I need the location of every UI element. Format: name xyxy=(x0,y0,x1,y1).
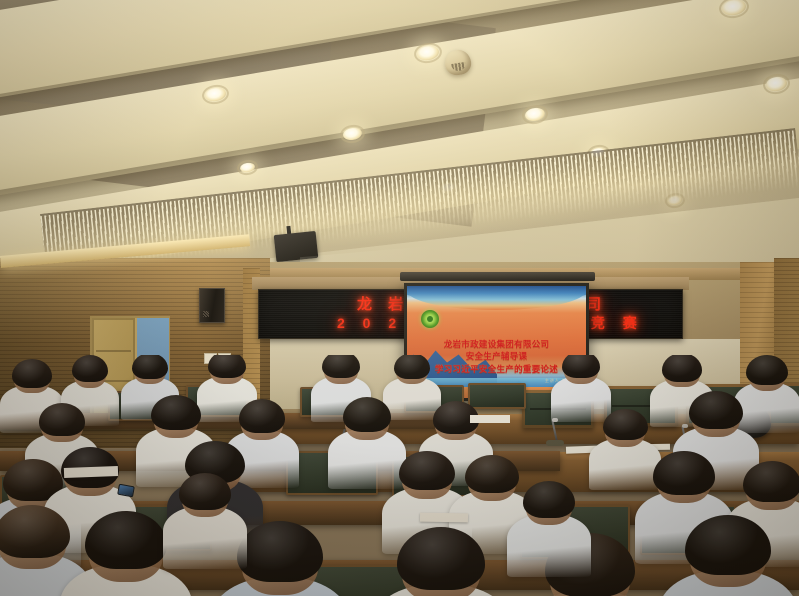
audience-paper-1 xyxy=(64,466,118,478)
audience-person-25 xyxy=(80,511,172,596)
audience-person-16 xyxy=(600,409,650,496)
slide-sky-band xyxy=(407,286,586,310)
person-hair xyxy=(239,399,286,433)
person-hair xyxy=(12,359,52,388)
person-hair xyxy=(72,355,108,382)
person-hair xyxy=(237,521,323,582)
audience-paper-3 xyxy=(470,415,510,423)
person-hair xyxy=(208,355,246,378)
person-hair xyxy=(662,355,702,382)
slide-title-line-1: 龙岩市政建设集团有限公司 xyxy=(407,338,586,350)
person-hair xyxy=(685,515,771,575)
audience-person-6 xyxy=(392,355,432,425)
person-hair xyxy=(39,403,86,436)
person-hair xyxy=(85,511,168,569)
person-hair xyxy=(132,355,168,379)
person-hair xyxy=(397,527,485,590)
person-hair xyxy=(603,409,648,440)
person-hair xyxy=(653,451,714,495)
audience-person-13 xyxy=(340,397,394,496)
audience-person-7 xyxy=(560,355,602,427)
person-hair xyxy=(746,355,787,385)
audience-paper-2 xyxy=(420,513,468,523)
wall-speaker xyxy=(199,288,225,323)
screen-roller-housing xyxy=(400,272,595,281)
person-hair xyxy=(322,355,360,378)
person-hair xyxy=(689,391,743,429)
person-hair xyxy=(0,505,70,558)
person-hair xyxy=(399,451,455,490)
person-hair xyxy=(465,455,519,493)
audience-person-27 xyxy=(392,527,490,596)
audience-person-24 xyxy=(0,505,74,596)
audience-person-29 xyxy=(680,515,776,596)
person-hair xyxy=(523,481,575,518)
person-hair xyxy=(394,355,430,379)
audience-person-31 xyxy=(520,481,578,584)
person-hair xyxy=(562,355,600,378)
person-hair xyxy=(343,397,392,432)
person-hair xyxy=(743,461,799,502)
audience-seating xyxy=(0,355,799,596)
safety-emblem-icon xyxy=(421,310,439,328)
audience-person-30 xyxy=(176,473,234,576)
conference-hall-photo: 龙 岩 市 公 司 2 0 2 0 年 能 竞 赛 龙岩市政建设集团有限公司 安… xyxy=(0,0,799,596)
audience-person-9 xyxy=(744,355,790,439)
person-hair xyxy=(179,473,231,510)
person-hair xyxy=(151,395,201,430)
